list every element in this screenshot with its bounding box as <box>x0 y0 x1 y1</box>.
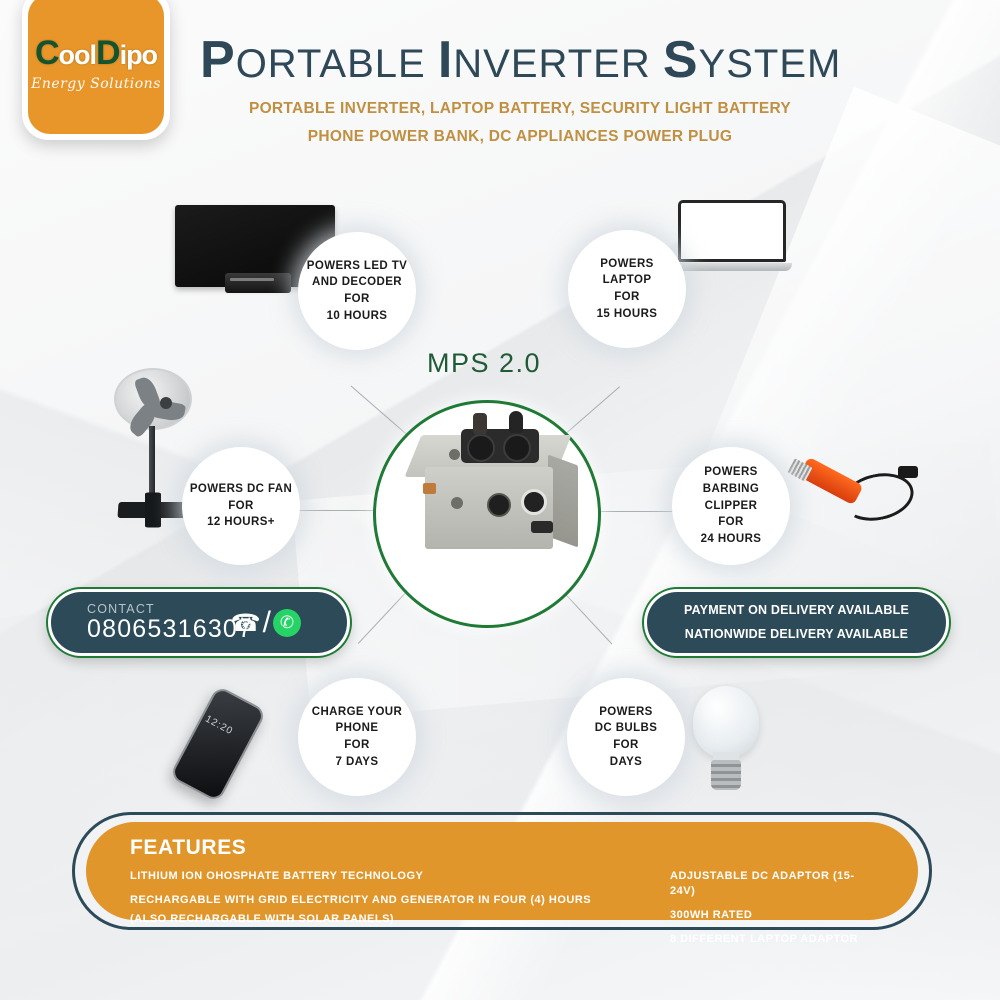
callout-bubble-barbing-clipper: POWERS BARBING CLIPPER FOR 24 HOURS <box>672 447 790 565</box>
inverter-plug <box>509 411 523 433</box>
bubble-line: 24 HOURS <box>701 533 762 545</box>
infographic-poster: CoolDipo Energy Solutions PORTABLE INVER… <box>0 0 1000 1000</box>
bubble-line: DC BULBS <box>595 722 658 734</box>
delivery-banner: PAYMENT ON DELIVERY AVAILABLE NATIONWIDE… <box>644 589 949 656</box>
connector-line <box>596 511 676 512</box>
contact-phone-number[interactable]: 08065316307 <box>87 616 253 642</box>
bubble-line: PHONE <box>336 722 379 734</box>
bubble-line: POWERS <box>599 706 653 718</box>
bubble-line: FOR <box>614 291 639 303</box>
callout-bubble-dc-bulbs: POWERS DC BULBS FOR DAYS <box>567 678 685 796</box>
fan-head <box>114 368 192 430</box>
inverter-port <box>487 493 511 517</box>
callout-bubble-charge-phone: CHARGE YOUR PHONE FOR 7 DAYS <box>298 678 416 796</box>
bubble-line: 10 HOURS <box>327 310 388 322</box>
subtitle-line-2: PHONE POWER BANK, DC APPLIANCES POWER PL… <box>200 128 840 146</box>
bubble-line: 12 HOURS+ <box>207 516 275 528</box>
barbing-clipper-image <box>790 452 925 532</box>
bubble-line: FOR <box>344 293 369 305</box>
feature-item: 8 DIFFERENT LAPTOP ADAPTOR <box>670 932 874 947</box>
laptop-image <box>678 200 798 280</box>
contact-label: CONTACT <box>87 602 253 616</box>
fan-hub <box>160 397 172 409</box>
logo-letter-c: C <box>35 36 59 70</box>
inverter-port <box>451 497 463 509</box>
bubble-line: FOR <box>228 500 253 512</box>
bulb-screw-base <box>711 760 741 790</box>
clipper-plug <box>898 466 918 478</box>
portable-inverter-image <box>407 405 587 570</box>
decoder-box <box>225 273 291 293</box>
logo-badge: CoolDipo Energy Solutions <box>28 0 164 134</box>
poster-header: PORTABLE INVERTER SYSTEM PORTABLE INVERT… <box>200 34 840 146</box>
bubble-line: POWERS LED TV <box>307 260 407 272</box>
bulb-glass <box>693 686 759 758</box>
whatsapp-icon[interactable]: ✆ <box>273 609 301 637</box>
logo-wordmark: CoolDipo <box>35 36 157 70</box>
inverter-terminal <box>423 483 436 494</box>
features-title: FEATURES <box>130 836 874 860</box>
bubble-line: AND DECODER <box>312 276 402 288</box>
phone-body <box>169 685 267 803</box>
callout-bubble-dc-fan: POWERS DC FAN FOR 12 HOURS+ <box>182 447 300 565</box>
feature-item: 300WH RATED <box>670 908 874 923</box>
contact-icons: ☎ / ✆ <box>231 606 301 640</box>
bubble-line: POWERS <box>600 258 654 270</box>
fan-base <box>145 493 161 528</box>
bubble-line: FOR <box>718 516 743 528</box>
logo-text-ool: ool <box>59 42 97 69</box>
inverter-switch <box>531 521 553 533</box>
laptop-base <box>672 263 792 271</box>
delivery-line-2: NATIONWIDE DELIVERY AVAILABLE <box>685 623 908 647</box>
contact-banner[interactable]: CONTACT 08065316307 ☎ / ✆ <box>48 589 350 656</box>
feature-item: LITHIUM ION OHOSPHATE BATTERY TECHNOLOGY <box>130 869 670 884</box>
feature-item: ADJUSTABLE DC ADAPTOR (15-24V) <box>670 869 874 899</box>
inverter-socket <box>467 434 495 462</box>
bubble-line: POWERS DC FAN <box>190 483 292 495</box>
features-left-column: LITHIUM ION OHOSPHATE BATTERY TECHNOLOGY… <box>130 869 670 955</box>
logo-letter-d: D <box>96 36 120 70</box>
bubble-line: DAYS <box>610 756 643 768</box>
subtitle-line-1: PORTABLE INVERTER, LAPTOP BATTERY, SECUR… <box>200 100 840 118</box>
phone-icon[interactable]: ☎ <box>231 609 261 638</box>
laptop-screen <box>678 200 786 262</box>
bubble-line: BARBING CLIPPER <box>703 483 759 512</box>
logo-text-ipo: ipo <box>120 42 158 69</box>
logo-tagline: Energy Solutions <box>31 76 161 92</box>
brand-logo: CoolDipo Energy Solutions <box>22 0 170 140</box>
product-model-label: MPS 2.0 <box>373 348 595 379</box>
inverter-port <box>449 449 460 460</box>
separator-slash: / <box>263 606 271 640</box>
callout-bubble-laptop: POWERS LAPTOP FOR 15 HOURS <box>568 230 686 348</box>
bubble-line: LAPTOP <box>603 274 652 286</box>
features-right-column: ADJUSTABLE DC ADAPTOR (15-24V) 300WH RAT… <box>670 869 874 955</box>
smartphone-image: 12:20 <box>190 692 280 802</box>
inverter-socket <box>503 434 531 462</box>
clipper-body <box>798 457 863 506</box>
bubble-line: FOR <box>344 739 369 751</box>
page-title: PORTABLE INVERTER SYSTEM <box>200 34 840 86</box>
bubble-line: FOR <box>613 739 638 751</box>
fan-blade <box>134 375 162 411</box>
features-panel: FEATURES LITHIUM ION OHOSPHATE BATTERY T… <box>86 822 918 920</box>
dc-bulb-image <box>693 686 771 798</box>
feature-item: RECHARGABLE WITH GRID ELECTRICITY AND GE… <box>130 893 670 908</box>
inverter-port <box>521 489 547 515</box>
bubble-line: CHARGE YOUR <box>312 706 402 718</box>
bubble-line: POWERS <box>704 466 758 478</box>
callout-bubble-led-tv: POWERS LED TV AND DECODER FOR 10 HOURS <box>298 232 416 350</box>
feature-item: (ALSO RECHARGABLE WITH SOLAR PANELS) <box>130 912 670 927</box>
bubble-line: 15 HOURS <box>597 308 658 320</box>
inverter-plug <box>473 413 487 435</box>
delivery-line-1: PAYMENT ON DELIVERY AVAILABLE <box>684 599 909 623</box>
bubble-line: 7 DAYS <box>336 756 379 768</box>
